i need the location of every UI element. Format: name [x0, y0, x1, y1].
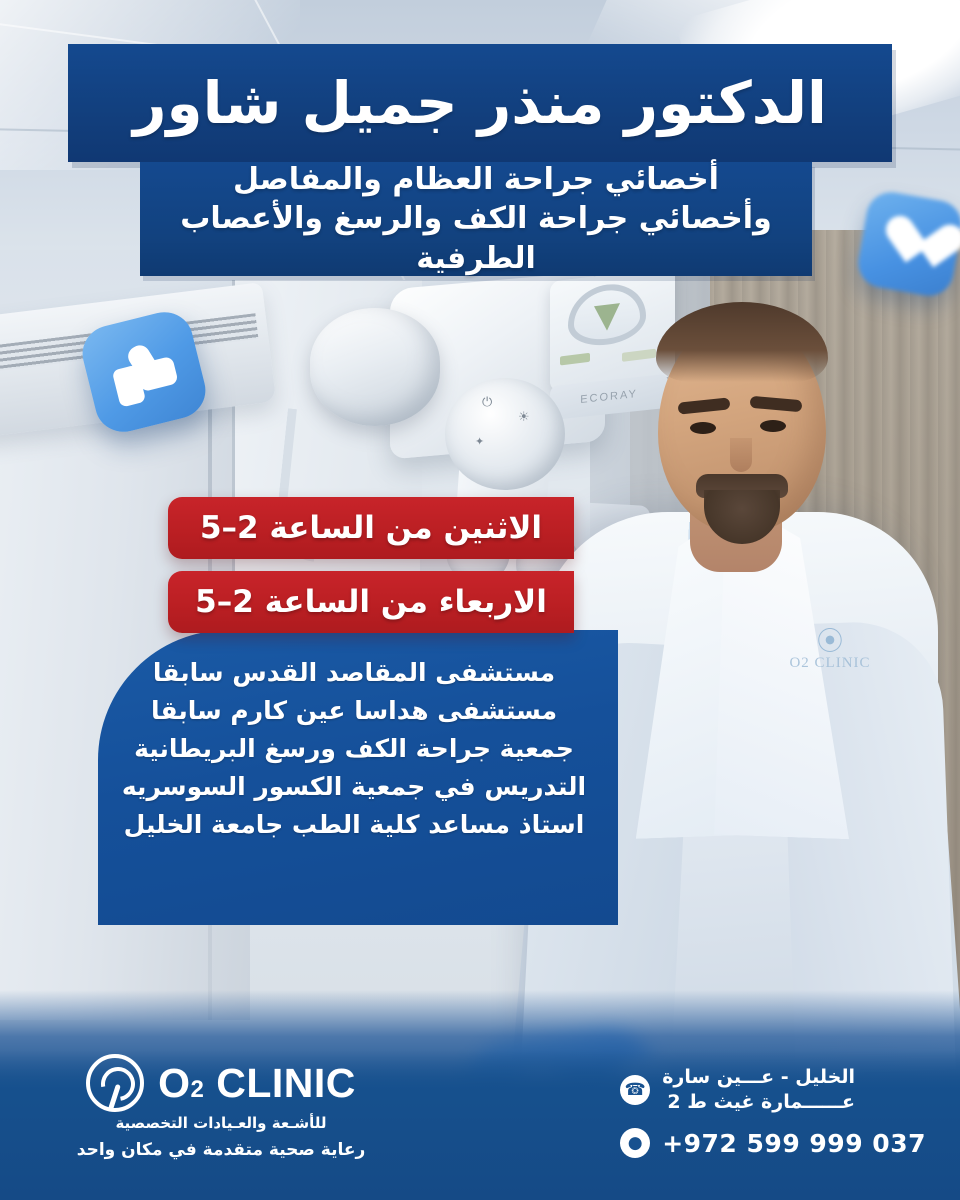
credential-item: جمعية جراحة الكف ورسغ البريطانية: [134, 734, 574, 763]
doctor-eye: [760, 420, 786, 432]
o2-swirl-logo-icon: [86, 1054, 144, 1112]
specialty-banner: أخصائي جراحة العظام والمفاصل وأخصائي جرا…: [140, 162, 812, 276]
address-line-1: الخليل - عـــين سارة: [662, 1065, 855, 1091]
heart-glyph: [879, 215, 941, 274]
phone-icon[interactable]: ☎: [620, 1075, 650, 1105]
coat-logo-text: O2 CLINIC: [789, 655, 870, 671]
schedule-banner-wednesday: الاربعاء من الساعة 2–5: [168, 571, 574, 633]
clinic-logo: O2 CLINIC للأشـعة والعـيادات التخصصية رع…: [56, 1054, 386, 1160]
coat-logo-embroidery: ⦿ O2 CLINIC: [774, 628, 886, 690]
thumbs-up-glyph: [107, 336, 181, 407]
doctor-hair: [656, 302, 828, 382]
credential-item: التدريس في جمعية الكسور السوسريه: [122, 772, 586, 801]
location-pin-icon[interactable]: ●: [620, 1128, 650, 1158]
contact-address-row: الخليل - عـــين سارة عــــــمارة غيث ط 2…: [620, 1065, 855, 1116]
contact-info: الخليل - عـــين سارة عــــــمارة غيث ط 2…: [620, 1065, 926, 1158]
logo-2: 2: [191, 1076, 205, 1103]
schedule-banner-monday: الاثنين من الساعة 2–5: [168, 497, 574, 559]
coat-logo-swirl-icon: ⦿: [774, 628, 886, 655]
doctor-name-banner: الدكتور منذر جميل شاور: [68, 44, 892, 162]
light-symbol-icon: ☀: [518, 410, 530, 425]
power-symbol-icon: ⏻: [482, 395, 492, 410]
logo-wordmark: O2 CLINIC: [158, 1063, 356, 1104]
xray-tube-head: [310, 308, 440, 426]
clinic-advertisement-poster: ECORAY ⏻ ☀ ✦: [0, 0, 960, 1200]
schedule-label: الاثنين من الساعة 2–5: [200, 510, 542, 546]
logo-tagline: رعاية صحية متقدمة في مكان واحد: [77, 1140, 365, 1160]
specialty-text: أخصائي جراحة العظام والمفاصل وأخصائي جرا…: [162, 160, 790, 279]
schedule-label: الاربعاء من الساعة 2–5: [195, 584, 547, 620]
credential-item: استاذ مساعد كلية الطب جامعة الخليل: [124, 810, 585, 839]
contact-phone-number[interactable]: +972 599 999 037: [662, 1129, 926, 1158]
doctor-nose: [730, 438, 752, 472]
doctor-eye: [690, 422, 716, 434]
settings-symbol-icon: ✦: [475, 435, 484, 448]
heart-icon: [854, 188, 960, 299]
footer-band: O2 CLINIC للأشـعة والعـيادات التخصصية رع…: [0, 990, 960, 1200]
page-title: الدكتور منذر جميل شاور: [133, 69, 827, 137]
credential-item: مستشفى هداسا عين كارم سابقا: [151, 696, 557, 725]
logo-o: O: [158, 1060, 190, 1106]
contact-phone-row: +972 599 999 037 ●: [620, 1128, 926, 1158]
contact-address: الخليل - عـــين سارة عــــــمارة غيث ط 2: [662, 1065, 855, 1116]
address-line-2: عــــــمارة غيث ط 2: [662, 1090, 855, 1116]
credential-item: مستشفى المقاصد القدس سابقا: [153, 658, 555, 687]
logo-clinic: CLINIC: [204, 1060, 356, 1106]
logo-arabic-subtitle: للأشـعة والعـيادات التخصصية: [115, 1114, 326, 1132]
credentials-panel: مستشفى المقاصد القدس سابقا مستشفى هداسا …: [98, 630, 618, 925]
